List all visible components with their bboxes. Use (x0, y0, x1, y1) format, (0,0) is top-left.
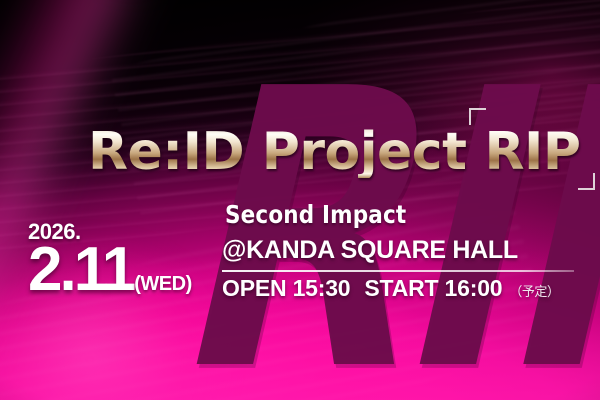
date-day-row: 2.11 (WED) (28, 241, 192, 300)
divider-line (222, 270, 574, 272)
date-day-of-week: (WED) (134, 273, 191, 296)
showtimes: OPEN 15:30 START 16:00 （予定） (222, 275, 559, 302)
open-time: OPEN 15:30 (222, 275, 350, 302)
title-rip-group: RIP (482, 126, 582, 178)
subtitle: Second Impact (225, 200, 406, 229)
poster-content: Re:ID Project RIP Second Impact 2026. 2.… (0, 0, 600, 400)
date-day: 2.11 (28, 241, 133, 300)
venue-name: @KANDA SQUARE HALL (222, 236, 518, 265)
start-time: START 16:00 (364, 275, 502, 302)
corner-bracket-bottom-right-icon (578, 173, 595, 190)
title-rip: RIP (484, 122, 580, 182)
title-project-name: Re:ID Project (88, 126, 466, 178)
date-block: 2026. 2.11 (WED) (28, 221, 192, 300)
schedule-note: （予定） (509, 281, 559, 300)
event-poster: RIP RIP Re:ID Project RIP Second Impact … (0, 0, 600, 400)
main-title: Re:ID Project RIP (88, 126, 582, 178)
